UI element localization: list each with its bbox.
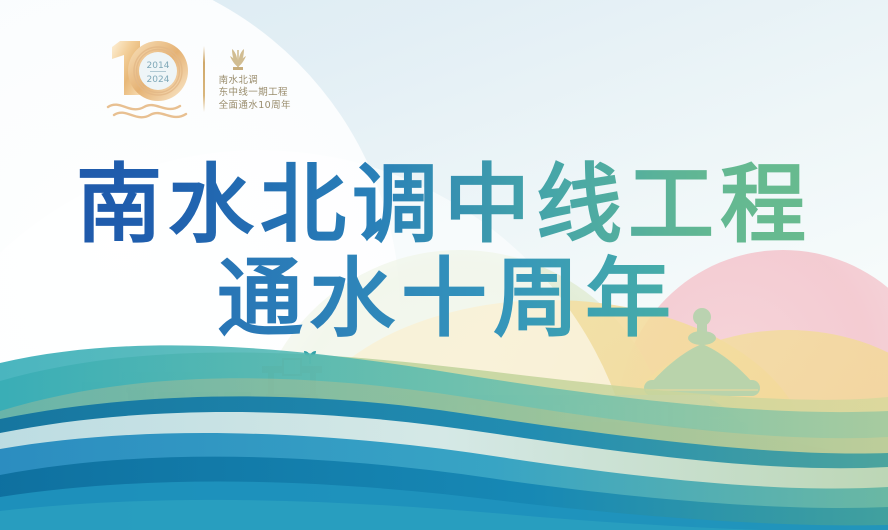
headline-line-1: 南水北调中线工程 xyxy=(0,158,888,252)
anniversary-banner: 中国南水北调 xyxy=(0,0,888,530)
water-emblem-icon xyxy=(223,47,253,71)
logo-org-line-3: 全面通水10周年 xyxy=(219,100,291,112)
headline-block: 南水北调中线工程 通水十周年 xyxy=(0,158,888,346)
svg-text:2014: 2014 xyxy=(147,61,170,71)
logo-org-line-2: 东中线一期工程 xyxy=(219,87,291,99)
logo-org-line-1: 南水北调 xyxy=(219,75,291,87)
svg-text:2024: 2024 xyxy=(147,75,170,85)
headline-line-2: 通水十周年 xyxy=(0,252,888,346)
anniversary-10-logo-icon: 2014 2024 xyxy=(100,33,195,125)
anniversary-logo-lockup: 2014 2024 xyxy=(100,30,315,128)
logo-divider xyxy=(203,46,205,112)
